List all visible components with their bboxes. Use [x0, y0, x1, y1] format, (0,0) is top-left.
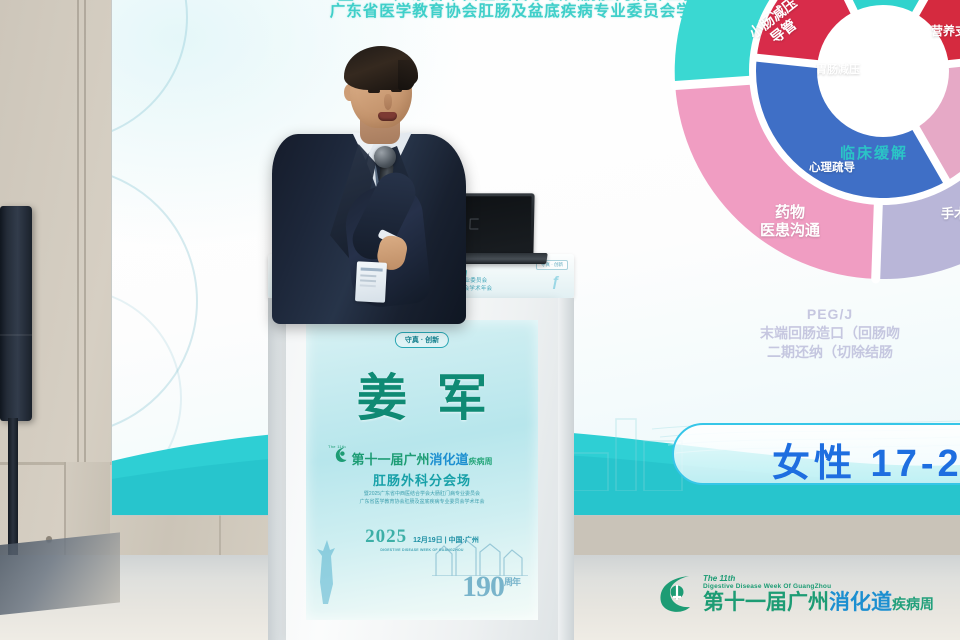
- slide-note-line1: PEG/J: [700, 305, 960, 324]
- chart-center-hole: [817, 5, 949, 137]
- poster-tagline: 守真 · 创新: [395, 332, 449, 348]
- poster-logo-en-line1: The 11th: [328, 444, 538, 449]
- poster-sub-line2: 广东省医学教育协会肛肠及盆底疾病专业委员会学术年会: [306, 498, 538, 506]
- chart-svg: [668, 0, 960, 286]
- poster-logo-cn: 第十一届广州消化道疾病周: [351, 452, 492, 467]
- highlight-pill-label: 女性 17-2: [772, 432, 960, 487]
- speaker-person: [268, 48, 498, 278]
- podium-poster: 守真 · 创新 姜军 The 11th 第十一届广州消化道疾病周 肛肠外科分会场…: [306, 320, 538, 620]
- footer-logo-en-line1: The 11th: [703, 575, 934, 583]
- footer-logo: The 11th Digestive Disease Week Of Guang…: [656, 566, 956, 622]
- slide-note-line3: 二期还纳（切除结肠: [700, 343, 960, 362]
- podium-banner-mark-icon: ƒ: [552, 273, 560, 290]
- treatment-pathway-chart: 小肠减压导管 药物医患沟通 营养支持 胃肠减压 心理疏导 手术 临床缓解: [668, 0, 960, 286]
- floor-wall-shadow: [0, 532, 120, 615]
- statue-graphic: [314, 538, 340, 606]
- speaker-name: 姜军: [306, 358, 538, 430]
- poster-session-subtitle: 暨2025广东省中西医结合学会大肠肛门病专业委员会 广东省医学教育协会肛肠及盆底…: [306, 490, 538, 506]
- podium-right-side: [558, 298, 574, 640]
- poster-logo-cn-prefix: 第十一届广州: [351, 452, 429, 467]
- poster-logo-cn-suffix: 疾病周: [469, 457, 493, 466]
- anniversary-number: 190: [462, 570, 504, 603]
- poster-logo: The 11th 第十一届广州消化道疾病周: [306, 444, 538, 469]
- slide-notes: PEG/J 末端回肠造口（回肠吻 二期还纳（切除结肠: [700, 305, 960, 362]
- poster-session-title: 肛肠外科分会场: [306, 470, 538, 489]
- footer-logo-en-line2: Digestive Disease Week Of GuangZhou: [703, 584, 934, 591]
- chart-center-label: 临床缓解: [840, 142, 908, 163]
- nose: [384, 94, 392, 110]
- screenshot-root: 暨2025广东省中西医结合学会大肠肛门病专业委员会 广东省医学教育协会肛肠及盆底…: [0, 0, 960, 640]
- footer-logo-cn: 第十一届广州消化道疾病周: [703, 592, 934, 613]
- footer-logo-cn-accent: 消化道: [829, 591, 892, 614]
- name-badge: [355, 261, 387, 303]
- podium-left-side: [268, 298, 286, 640]
- microphone-icon: [374, 146, 396, 168]
- footer-logo-cn-suffix: 疾病周: [892, 596, 934, 612]
- poster-year: 2025: [365, 526, 407, 547]
- mouth: [378, 112, 397, 121]
- pa-speaker-icon: [0, 206, 32, 421]
- anniversary-suffix: 周年: [504, 577, 520, 587]
- poster-logo-cn-accent: 消化道: [430, 452, 469, 467]
- slide-note-line2: 末端回肠造口（回肠吻: [700, 324, 960, 343]
- footer-logo-cn-prefix: 第十一届广州: [703, 591, 829, 614]
- hair: [344, 46, 418, 90]
- poster-sub-line1: 暨2025广东省中西医结合学会大肠肛门病专业委员会: [306, 490, 538, 498]
- anniversary-mark: 190周年: [462, 570, 520, 604]
- footer-leaf-logo-icon: [656, 573, 696, 615]
